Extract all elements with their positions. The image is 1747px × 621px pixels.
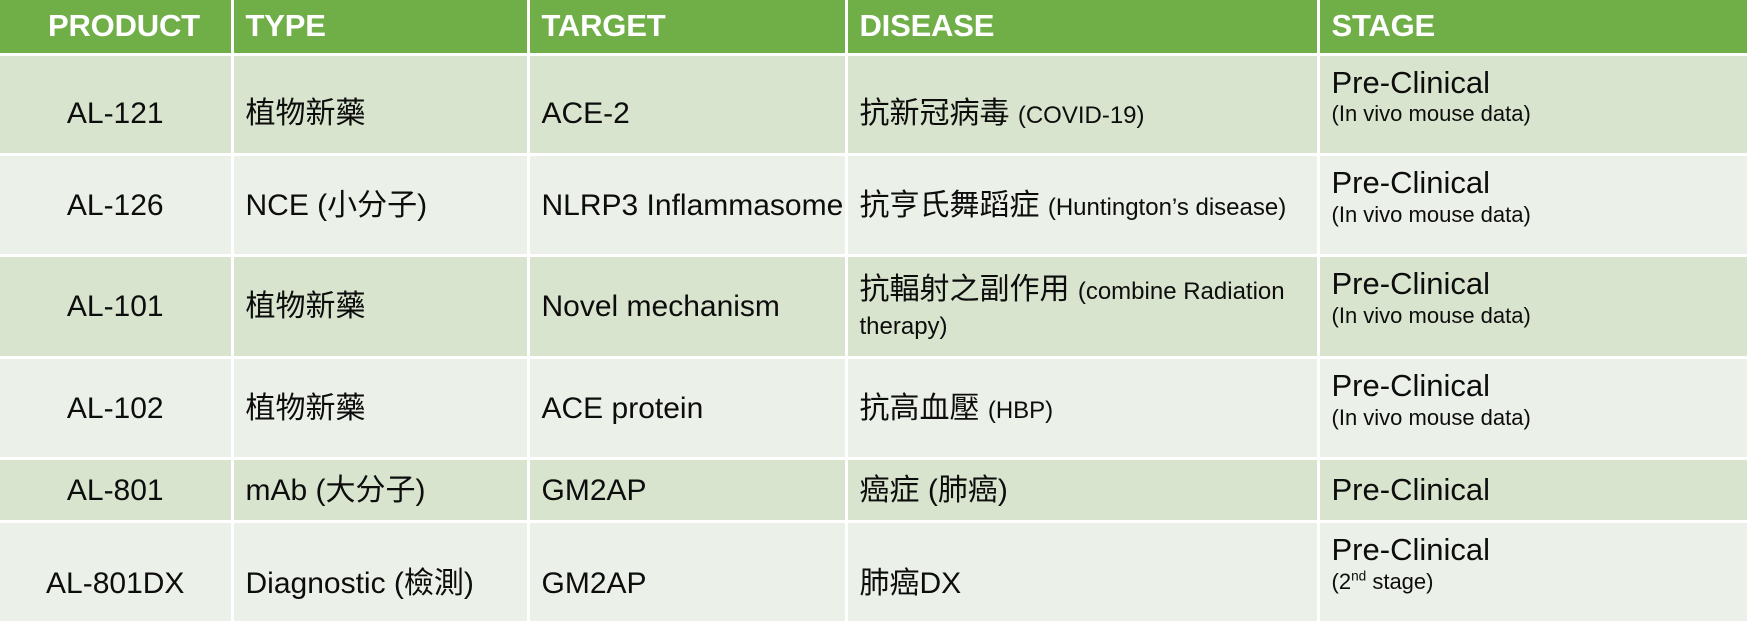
stage-main-text: Pre-Clinical (1332, 369, 1738, 402)
disease-main-text: 肺癌DX (860, 567, 962, 600)
stage-sub-pre: (2 (1332, 569, 1352, 594)
cell-type: 植物新藥 (232, 256, 528, 358)
column-header-disease[interactable]: DISEASE (846, 0, 1318, 54)
stage-main-text: Pre-Clinical (1332, 267, 1738, 300)
stage-main-text: Pre-Clinical (1332, 166, 1738, 199)
table-row[interactable]: AL-801DX Diagnostic (檢測) GM2AP 肺癌DX Pre-… (0, 522, 1747, 621)
cell-product: AL-101 (0, 256, 232, 358)
table-body: AL-121 植物新藥 ACE-2 抗新冠病毒 (COVID-19) Pre-C… (0, 54, 1747, 621)
cell-target: GM2AP (528, 522, 846, 621)
cell-stage: Pre-Clinical(In vivo mouse data) (1318, 155, 1747, 256)
cell-type: 植物新藥 (232, 358, 528, 459)
column-header-type[interactable]: TYPE (232, 0, 528, 54)
cell-disease: 癌症 (肺癌) (846, 459, 1318, 522)
cell-disease: 抗新冠病毒 (COVID-19) (846, 54, 1318, 155)
cell-target: ACE-2 (528, 54, 846, 155)
table-row[interactable]: AL-101 植物新藥 Novel mechanism 抗輻射之副作用 (com… (0, 256, 1747, 358)
table-header-row: PRODUCT TYPE TARGET DISEASE STAGE (0, 0, 1747, 54)
cell-product: AL-126 (0, 155, 232, 256)
cell-type: mAb (大分子) (232, 459, 528, 522)
table-header: PRODUCT TYPE TARGET DISEASE STAGE (0, 0, 1747, 54)
column-header-target[interactable]: TARGET (528, 0, 846, 54)
cell-disease: 抗輻射之副作用 (combine Radiation therapy) (846, 256, 1318, 358)
cell-product: AL-121 (0, 54, 232, 155)
stage-sub-text: (In vivo mouse data) (1332, 405, 1738, 431)
stage-sub-pre: (In vivo mouse data) (1332, 303, 1531, 328)
cell-disease: 肺癌DX (846, 522, 1318, 621)
cell-stage: Pre-Clinical(In vivo mouse data) (1318, 54, 1747, 155)
disease-note-text: (Huntington’s disease) (1048, 194, 1286, 221)
stage-sub-text: (In vivo mouse data) (1332, 202, 1738, 228)
cell-product: AL-102 (0, 358, 232, 459)
stage-main-text: Pre-Clinical (1332, 66, 1738, 99)
stage-sub-text: (In vivo mouse data) (1332, 101, 1738, 127)
cell-type: NCE (小分子) (232, 155, 528, 256)
stage-main-text: Pre-Clinical (1332, 533, 1738, 566)
cell-product: AL-801 (0, 459, 232, 522)
stage-sub-pre: (In vivo mouse data) (1332, 101, 1531, 126)
cell-stage: Pre-Clinical(In vivo mouse data) (1318, 256, 1747, 358)
stage-main-text: Pre-Clinical (1332, 473, 1738, 506)
disease-note-text: (HBP) (988, 397, 1053, 424)
disease-main-text: 抗亨氏舞蹈症 (860, 189, 1040, 222)
cell-stage: Pre-Clinical(In vivo mouse data) (1318, 358, 1747, 459)
stage-sub-pre: (In vivo mouse data) (1332, 202, 1531, 227)
disease-main-text: 抗輻射之副作用 (860, 273, 1070, 306)
disease-note-text: (COVID-19) (1018, 102, 1145, 129)
stage-sub-sup: nd (1351, 569, 1366, 584)
cell-disease: 抗亨氏舞蹈症 (Huntington’s disease) (846, 155, 1318, 256)
product-pipeline-table: PRODUCT TYPE TARGET DISEASE STAGE AL-121… (0, 0, 1747, 621)
cell-type: 植物新藥 (232, 54, 528, 155)
cell-target: Novel mechanism (528, 256, 846, 358)
disease-main-text: 抗新冠病毒 (860, 97, 1010, 130)
column-header-product[interactable]: PRODUCT (0, 0, 232, 54)
table-row[interactable]: AL-121 植物新藥 ACE-2 抗新冠病毒 (COVID-19) Pre-C… (0, 54, 1747, 155)
disease-main-text: 癌症 (肺癌) (860, 474, 1008, 507)
cell-stage: Pre-Clinical(2nd stage) (1318, 522, 1747, 621)
table-row[interactable]: AL-801 mAb (大分子) GM2AP 癌症 (肺癌) Pre-Clini… (0, 459, 1747, 522)
column-header-stage[interactable]: STAGE (1318, 0, 1747, 54)
table-row[interactable]: AL-102 植物新藥 ACE protein 抗高血壓 (HBP) Pre-C… (0, 358, 1747, 459)
stage-sub-post: stage) (1366, 569, 1433, 594)
stage-sub-pre: (In vivo mouse data) (1332, 405, 1531, 430)
stage-sub-text: (2nd stage) (1332, 569, 1738, 595)
cell-target: NLRP3 Inflammasome (528, 155, 846, 256)
cell-target: ACE protein (528, 358, 846, 459)
cell-target: GM2AP (528, 459, 846, 522)
disease-main-text: 抗高血壓 (860, 392, 980, 425)
cell-type: Diagnostic (檢測) (232, 522, 528, 621)
stage-sub-text: (In vivo mouse data) (1332, 303, 1738, 329)
cell-stage: Pre-Clinical (1318, 459, 1747, 522)
cell-disease: 抗高血壓 (HBP) (846, 358, 1318, 459)
table-row[interactable]: AL-126 NCE (小分子) NLRP3 Inflammasome 抗亨氏舞… (0, 155, 1747, 256)
cell-product: AL-801DX (0, 522, 232, 621)
